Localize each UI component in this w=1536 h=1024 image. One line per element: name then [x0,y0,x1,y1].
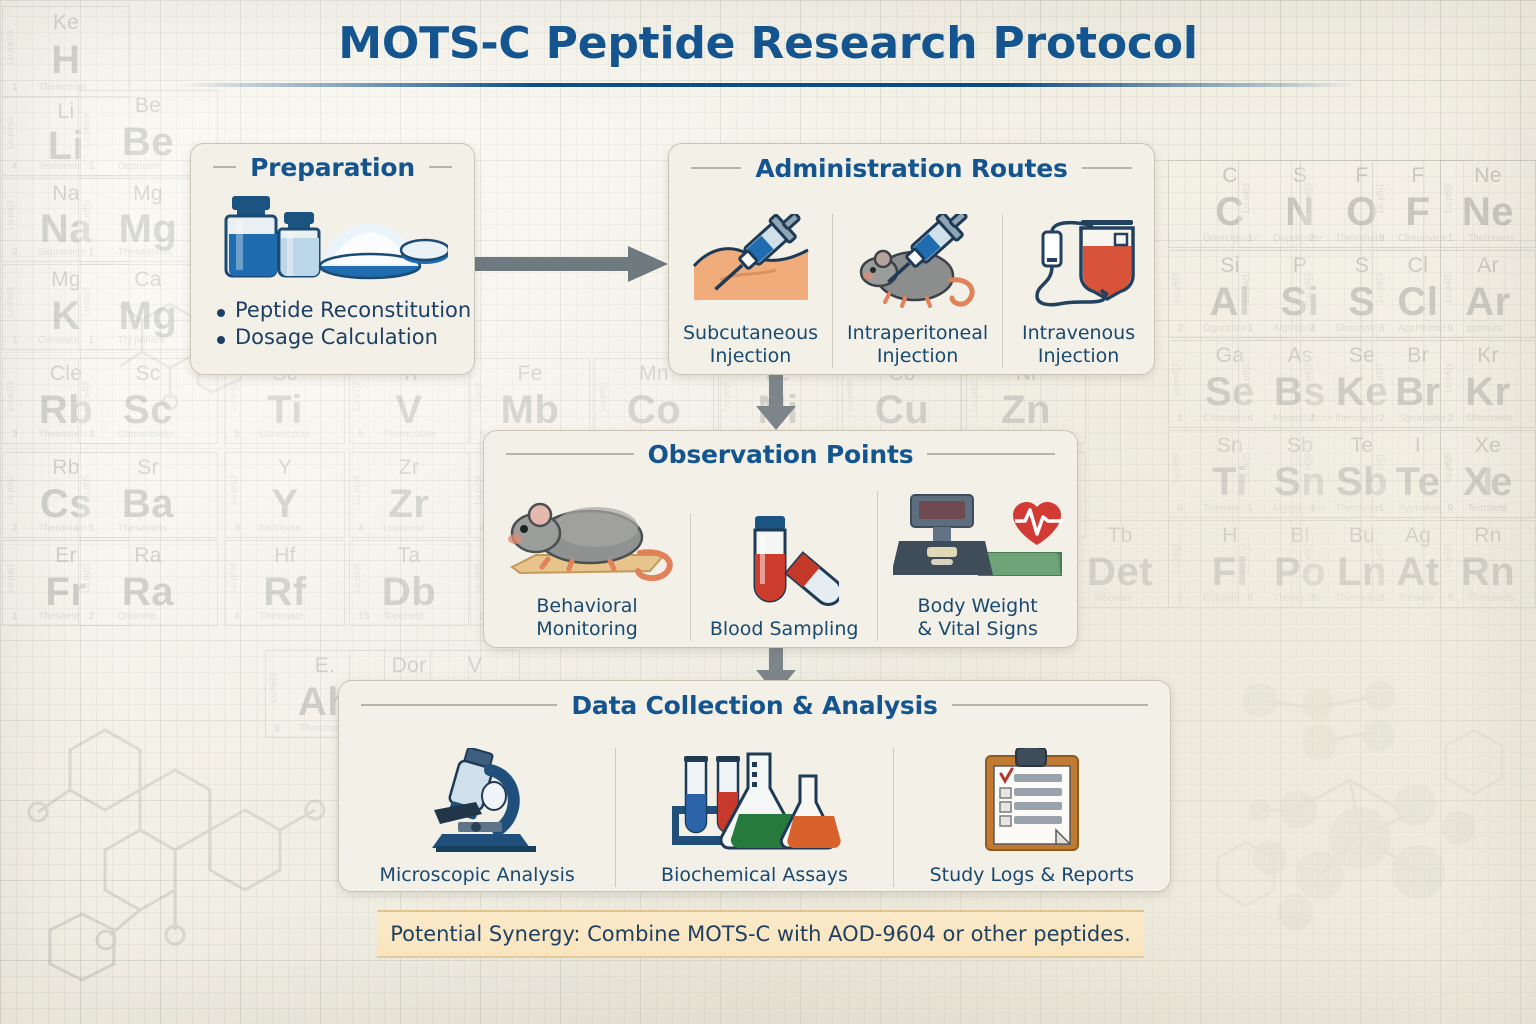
title-rule-left [506,453,634,455]
periodic-cell-top: Ta [350,544,468,568]
label-line-1: Behavioral [536,595,637,617]
periodic-cell-number: 3 [234,523,240,534]
periodic-cell-symbol: Al [1169,280,1291,325]
periodic-cell-side: Lu.p6]5 [1443,453,1453,483]
periodic-cell-symbol: Ti [1169,460,1291,505]
bullet-dot-icon [217,336,225,344]
periodic-cell-top: Ag [1373,524,1463,548]
label-line-1: Blood Sampling [710,618,859,640]
periodic-cell-side: Lu.h6]3 [268,673,278,703]
periodic-cell-top: Fe [471,362,589,386]
periodic-cell-name: Apchtriebe [1398,323,1446,334]
periodic-cell-side: Lu.ph]4 [228,563,238,593]
periodic-cell-symbol: Li [3,124,129,169]
periodic-cell-top: Se [1301,344,1423,368]
label-line-1: Microscopic Analysis [380,864,575,886]
periodic-cell: HFl6CcinnireiLu.h6]3 [1168,520,1292,608]
item-intravenous-injection[interactable]: Intravenous Injection [1002,214,1154,368]
periodic-cell-name: Loponete [383,523,425,534]
periodic-cell-top: I [1373,434,1463,458]
periodic-cell-symbol: Ne [1441,190,1535,235]
periodic-cell: BrBr2SgronsietsLu.p4]7 [1372,340,1464,428]
periodic-cell-name: Cheomarie [1398,233,1447,244]
periodic-cell-symbol: Rn [1441,550,1535,595]
title-rule-right [927,453,1055,455]
periodic-cell-symbol: Zr [350,482,468,527]
periodic-cell-top: As [1239,344,1361,368]
periodic-cell-top: Ar [1441,254,1535,278]
periodic-cell-number: 4 [12,161,18,172]
periodic-cell-number: 2 [1310,323,1316,334]
periodic-cell-side: Lu.p6]7 [1375,543,1385,573]
periodic-cell-top: Be [79,94,217,118]
periodic-cell-top: Dor [350,654,468,678]
periodic-cell: SbSn1MgeomueteLu.o6]5 [1238,430,1362,518]
periodic-cell-top: Na [3,182,129,206]
periodic-cell: XeI9TeontietsLu.p6]5 [1440,430,1536,518]
label-line-2: Injection [710,345,791,367]
periodic-cell: PSi1AlgthiaertLu.p4]1 [1238,250,1362,338]
periodic-cell-symbol: Zn [967,388,1085,433]
periodic-cell-number: 1 [1248,503,1254,514]
periodic-cell-symbol: Na [3,207,129,252]
periodic-cell-symbol: Si [1239,280,1361,325]
periodic-cell-name: Mgeomuete [1273,503,1326,514]
periodic-cell-side: Lu.b6]8 [1303,453,1313,483]
periodic-cell-number: 6 [1178,593,1184,604]
blood-tubes-icon [729,514,839,606]
periodic-cell: TaDb15ToponeteLu.pe]5 [349,540,469,626]
card-observation-points[interactable]: Observation Points Behavioral [483,430,1078,648]
periodic-cell-number: 1 [1248,233,1254,244]
periodic-cell: SrBa5TheseotetsLu.pf]5 [78,452,218,538]
item-label: Blood Sampling [710,618,859,641]
title-rule-right [429,166,452,168]
periodic-cell-side: Lu.pd]3 [228,475,238,505]
item-behavioral-monitoring[interactable]: Behavioral Monitoring [484,491,690,641]
periodic-cell-symbol: Kr [1441,370,1535,415]
periodic-cell-top: Cl [1373,254,1463,278]
periodic-cell-number: 4 [234,611,240,622]
periodic-cell-top: S [1239,164,1361,188]
page-title: MOTS-C Peptide Research Protocol [0,18,1536,69]
periodic-cell-side: Lu.p5]3 [1443,543,1453,573]
periodic-cell-top: Sb [1239,434,1361,458]
periodic-cell: KrKr2DhonnietsLu.p6]y [1440,340,1536,428]
periodic-cell: ClCl6ApchtriebeLu.p9]3 [1372,250,1464,338]
periodic-cell-number: 5 [89,161,95,172]
periodic-cell-number: 1 [1248,323,1254,334]
item-label: Intraperitoneal Injection [847,322,988,368]
periodic-cell-symbol: Po [1239,550,1361,595]
periodic-cell-number: 3 [1310,593,1316,604]
periodic-cell-side: Lu.n6]3 [1303,183,1313,213]
periodic-cell-top: S [1301,254,1423,278]
periodic-cell-number: 1 [89,335,95,346]
periodic-cell: RbCs2TheromateLu.pa]2 [2,452,130,538]
item-label: Behavioral Monitoring [536,595,638,641]
card-preparation[interactable]: Preparation [190,143,475,375]
periodic-cell-number: 9 [1448,503,1454,514]
periodic-cell-number: 9 [1379,233,1385,244]
periodic-cell-top: C [1169,164,1291,188]
periodic-cell-side: Lu.o6]5 [1241,453,1251,483]
item-label: Body Weight & Vital Signs [917,595,1037,641]
title-rule-left [213,166,236,168]
item-microscopic-analysis[interactable]: Microscopic Analysis [339,748,615,887]
periodic-cell-name: Theromets [1467,593,1515,604]
periodic-cell-top: Si [1169,254,1291,278]
title-rule-left [691,167,741,169]
card-administration-routes[interactable]: Administration Routes [668,143,1155,375]
periodic-cell: AsBs4MeoediaboceLu.p0]2 [1238,340,1362,428]
periodic-cell: YY3SxonseteLu.pd]3 [225,452,345,538]
molecule-watermark-left [10,630,370,1020]
periodic-cell-side: Lu.p0]2 [1241,363,1251,393]
periodic-cell-name: Gonrcipsece [1203,233,1259,244]
periodic-cell-number: 3 [12,429,18,440]
periodic-cell-number: 3 [1379,593,1385,604]
periodic-cell-side: Lu.m4]3 [1171,363,1181,396]
card-preparation-title: Preparation [250,153,415,182]
periodic-cell-number: 5 [358,429,364,440]
periodic-cell-side: Lu.a8]5 [81,200,91,230]
periodic-cell-number: 3 [89,429,95,440]
periodic-cell-name: Conorepsis [259,429,310,440]
molecule-watermark-bottomright [1200,660,1530,990]
title-divider [181,83,1356,87]
label-line-1: Subcutaneous [683,322,818,344]
label-line-1: Study Logs & Reports [930,864,1135,886]
periodic-cell-symbol: Sc [79,388,217,433]
periodic-cell-number: 4 [358,523,364,534]
periodic-cell-top: P [1239,254,1361,278]
periodic-cell-name: Theseotets [38,429,87,440]
periodic-cell-side: Lu.n4]3 [1241,183,1251,213]
vial-bottles-icon [218,190,448,284]
periodic-cell: ArAr9pcintuisLu.p4]1 [1440,250,1536,338]
periodic-cell-symbol: Fl [1169,550,1291,595]
periodic-cell-name: Meonate [1094,593,1133,604]
periodic-cell-side: Lu.n6]3 [1303,273,1313,303]
periodic-cell: CleRb3TheseotetsLu.a3]3 [2,358,130,444]
periodic-cell-symbol: Y [226,482,344,527]
clipboard-checklist-icon [982,748,1082,852]
periodic-cell-number: 9 [1448,503,1454,514]
item-label: Intravenous Injection [1022,322,1135,368]
periodic-cell-top: Br [1373,344,1463,368]
periodic-cell-symbol: Xe [1441,460,1535,505]
periodic-cell-side: Lu.a3]3 [5,381,15,411]
item-subcutaneous-injection[interactable]: Subcutaneous Injection [669,214,832,368]
periodic-cell-side: Lu.pa]1 [5,563,15,593]
item-body-weight-vital-signs[interactable]: Body Weight & Vital Signs [877,491,1077,641]
periodic-cell-side: Lu.p4]1 [1443,273,1453,303]
periodic-cell-name: Sxonsete [259,523,301,534]
periodic-cell-side: Lu.ca]3 [81,287,91,317]
periodic-cell-number: 1 [89,247,95,258]
bullet-label: Peptide Reconstitution [235,298,471,322]
periodic-cell-side: Lu.pxq3 [5,117,15,149]
periodic-cell-top: Er [3,544,129,568]
list-item: Dosage Calculation [217,325,474,349]
periodic-cell-symbol: O [1301,190,1423,235]
periodic-cell-top: Xe [1441,434,1535,458]
periodic-cell-name: Ccinnirei [1203,593,1242,604]
periodic-cell-number: 5 [89,523,95,534]
periodic-cell-symbol: Rb [3,388,129,433]
periodic-cell-name: Skpnedete [38,247,86,258]
periodic-cell-symbol: V [350,388,468,433]
periodic-cell-name: Comontaeto [118,429,172,440]
periodic-cell-symbol: Db [350,570,468,615]
periodic-cell: SS2SboonateLu.n6]3 [1300,250,1424,338]
periodic-cell-symbol: Cu [843,388,961,433]
periodic-cell-number: 6 [1248,593,1254,604]
periodic-cell-top: E. [266,654,384,678]
periodic-cell-side: Lu.n8]9 [1171,453,1181,483]
periodic-cell-name: Tevisienis [38,161,81,172]
periodic-cell-top: Sn [1169,434,1291,458]
periodic-cell-top: Cle [3,362,129,386]
bullet-label: Dosage Calculation [235,325,438,349]
periodic-cell-symbol: Ti [226,388,344,433]
periodic-cell-top: Rb [3,456,129,480]
periodic-cell-side: Lu.pa]3 [5,200,15,230]
periodic-cell-symbol: Rf [226,570,344,615]
periodic-cell-symbol: Te [1373,460,1463,505]
periodic-cell-top: Mg [3,268,129,292]
periodic-cell: MgK1CorseatxLu.0e]8 [2,264,130,350]
periodic-cell-side: Lu.p8]6 [473,563,483,593]
periodic-cell-symbol: Ra [79,570,217,615]
preparation-icons [191,190,474,284]
periodic-cell-name: Iheroniote [1335,413,1379,424]
periodic-cell-symbol: Ba [79,482,217,527]
periodic-cell-top: Ne [1441,164,1535,188]
arrow-preparation-to-administration [468,240,678,288]
periodic-cell-number: 1 [12,611,18,622]
card-administration-header: Administration Routes [669,144,1154,192]
periodic-cell-name: Theseotaets [118,247,173,258]
label-line-1: Biochemical Assays [661,864,848,886]
periodic-cell-side: Lu.pf]5 [81,475,91,503]
periodic-cell-side: Lu.e8]1 [228,381,238,411]
periodic-cell-number: 1 [1448,233,1454,244]
periodic-cell-side: Lu.p4]7 [1375,363,1385,393]
periodic-cell-side: Lu.p6]3 [1303,363,1313,393]
periodic-cell-name: Algthiaert [1273,323,1315,334]
periodic-cell: ZrZr4LoponeteLu.pb]4 [349,452,469,538]
periodic-cell-top: F [1301,164,1423,188]
periodic-cell-name: Sboonate [1335,323,1378,334]
periodic-cell-symbol: Ln [1301,550,1423,595]
card-data-title: Data Collection & Analysis [571,691,937,720]
periodic-cell-name: Dopomarie [1273,233,1322,244]
periodic-cell-symbol: Br [1373,370,1463,415]
periodic-cell-name: Teontiets [1467,503,1507,514]
item-study-logs-reports[interactable]: Study Logs & Reports [893,748,1170,887]
periodic-cell-side: Lu.p4]1 [1241,273,1251,303]
periodic-cell-name: Thetoniets [1467,233,1514,244]
periodic-cell: CCGonrcipsece [1168,160,1292,248]
periodic-cell-side: Lu.p6]y [1443,363,1453,393]
periodic-cell: HfRf4ThesmateLu.ph]4 [225,540,345,626]
periodic-cell-top: Sr [79,456,217,480]
periodic-cell: NaNa2SkpnedeteLu.pa]3 [2,178,130,262]
bullet-dot-icon [217,309,225,317]
periodic-cell-name: Treniele [1398,593,1434,604]
synergy-note: Potential Synergy: Combine MOTS-C with A… [390,922,1131,946]
periodic-cell: LiLi4TevisienisLu.pxq3 [2,96,130,176]
periodic-cell-side: Lu.p8]1 [1375,453,1385,483]
item-label: Microscopic Analysis [380,864,575,887]
periodic-cell-top: Xe [1441,434,1535,458]
item-label: Subcutaneous Injection [683,322,818,368]
periodic-cell-side: Lu.p8]7 [1303,543,1313,573]
periodic-cell-top: Tb [1061,524,1179,548]
periodic-cell-number: 6 [1379,323,1385,334]
periodic-cell-number: 2 [1310,233,1316,244]
flasks-testtubes-icon [666,748,842,852]
periodic-cell-side: Lu.pe]5 [352,563,362,593]
periodic-cell-name: Theromate [1335,233,1383,244]
periodic-cell-number: 15 [358,611,369,622]
label-line-2: Monitoring [536,618,638,640]
label-line-2: & Vital Signs [917,618,1037,640]
periodic-cell-side: Lu.p9]3 [1375,273,1385,303]
periodic-cell-side: Lu.pe]7 [597,381,607,411]
list-item: Peptide Reconstitution [217,298,474,322]
periodic-cell-name: Dhonniets [1467,413,1512,424]
periodic-cell-number: 9 [1448,593,1454,604]
periodic-cell-number: 2 [1379,413,1385,424]
periodic-cell-name: Oppthiele [118,161,161,172]
periodic-cell-side: Lu.q7]2 [352,381,362,411]
periodic-cell-name: pcintuis [1467,323,1501,334]
periodic-cell-name: Creonielx [1203,413,1245,424]
periodic-cell-number: 2 [1448,413,1454,424]
periodic-cell: AgAt3TrenieleLu.p6]7 [1372,520,1464,608]
title-block: MOTS-C Peptide Research Protocol [0,18,1536,87]
periodic-cell: SiAl2OgorbtiaxLu.p5]3 [1168,250,1292,338]
title-rule-right [952,704,1148,706]
periodic-cell-top: Rn [1441,524,1535,548]
periodic-cell-name: Ogorbtiax [1203,323,1246,334]
periodic-cell: BlPo6ThonemateLu.h7]0 [1238,520,1362,608]
periodic-cell-side: Lu.pe]9 [845,381,855,411]
periodic-cell-symbol: Mb [471,388,589,433]
periodic-cell-name: Thesoete [38,611,80,622]
periodic-cell-side: Lu.pb]4 [352,475,362,505]
periodic-cell-symbol: Sn [1239,460,1361,505]
item-biochemical-assays[interactable]: Biochemical Assays [615,748,892,887]
card-preparation-header: Preparation [191,144,474,190]
card-data-header: Data Collection & Analysis [339,681,1170,729]
periodic-cell-side: Lu.p5]3 [1171,273,1181,303]
periodic-cell-symbol: C [1169,190,1291,235]
periodic-cell-name: Thonemate [1273,593,1324,604]
periodic-cell-name: Toponete [383,611,424,622]
periodic-cell-name: Theremiats [1335,593,1385,604]
infographic-canvas: KeH1TheremianLu.ea?i3LiLi4TevisienisLu.p… [0,0,1536,1024]
periodic-cell-name: Thj pnhers [118,335,165,346]
periodic-cell-side: Lu.p8]2 [1443,183,1453,213]
footer-banner: Potential Synergy: Combine MOTS-C with A… [377,910,1144,958]
periodic-cell-side: Lu.p6s;y [81,113,91,147]
periodic-cell-name: Thesmate [259,611,303,622]
periodic-cell-name: Theromate [38,523,86,534]
periodic-cell-top: Bu [1301,524,1423,548]
periodic-cell-symbol: Cl [1373,280,1463,325]
periodic-cell-number: 1 [1178,413,1184,424]
periodic-cell-side: Lu.pa]2 [5,475,15,505]
periodic-cell-number: 4 [1248,413,1254,424]
periodic-cell-top: Zr [350,456,468,480]
label-line-2: Injection [877,345,958,367]
item-blood-sampling[interactable]: Blood Sampling [690,514,877,641]
periodic-cell: NeNe1ThetonietsLu.p8]2 [1440,160,1536,248]
periodic-cell-symbol: I [1441,460,1535,505]
periodic-cell-number: 2 [89,611,95,622]
periodic-cell-name: Theseotets [118,523,167,534]
periodic-cell-side: Lu.h7]0 [1241,543,1251,573]
periodic-cell-top: F [1373,164,1463,188]
periodic-cell-symbol: Fr [3,570,129,615]
periodic-cell-top: Hf [226,544,344,568]
periodic-cell-symbol: N [1239,190,1361,235]
periodic-cell-name: Corseatx [38,335,78,346]
periodic-cell-number: 2 [12,523,18,534]
periodic-cell-number: 2 [1310,413,1316,424]
periodic-cell-symbol: F [1373,190,1463,235]
microscope-icon [402,748,552,852]
periodic-cell: SnTi0TrennuelsLu.n8]9 [1168,430,1292,518]
periodic-cell-name: Sgronsiets [1398,413,1445,424]
item-intraperitoneal-injection[interactable]: Intraperitoneal Injection [832,214,1002,368]
periodic-cell-number: 9 [1448,323,1454,334]
periodic-cell-name: Thecsvate [1335,503,1381,514]
periodic-cell-number: 1 [1379,503,1385,514]
periodic-cell: ITe1SypnalineLu.p8]1 [1372,430,1464,518]
periodic-cell: SeKe2IheronioteLu.p6]3 [1300,340,1424,428]
card-data-collection-analysis[interactable]: Data Collection & Analysis [338,680,1171,892]
periodic-cell-top: Te [1301,434,1423,458]
periodic-cell-side: Lu.p6]5 [1443,453,1453,483]
periodic-cell-symbol: Sb [1301,460,1423,505]
title-rule-right [1082,167,1132,169]
title-rule-left [361,704,557,706]
periodic-cell: BuLn3TheremiatsLu.p8]7 [1300,520,1424,608]
periodic-cell: FF9CheomarieLu.p6]1 [1372,160,1464,248]
periodic-cell-number: 9 [274,723,280,734]
periodic-cell-number: 3 [1310,503,1316,514]
periodic-cell-name: Ononete [118,611,156,622]
periodic-cell-top: Bl [1239,524,1361,548]
periodic-cell-top: Y [226,456,344,480]
periodic-cell-side: Lu.pd]2 [81,563,91,593]
label-line-1: Intravenous [1022,322,1135,344]
periodic-cell-name: Teontiets [1467,503,1507,514]
item-label: Study Logs & Reports [930,864,1135,887]
mouse-on-platform-icon [498,491,676,583]
periodic-cell-side: Lu.p7]4 [473,475,483,505]
periodic-cell-number: 0 [1178,503,1184,514]
periodic-cell-number: 1 [12,335,18,346]
periodic-cell-name: Meoediaboce [1273,413,1333,424]
periodic-cell-number: 2 [1178,323,1184,334]
periodic-cell: TeSb3ThecsvateLu.b6]8 [1300,430,1424,518]
